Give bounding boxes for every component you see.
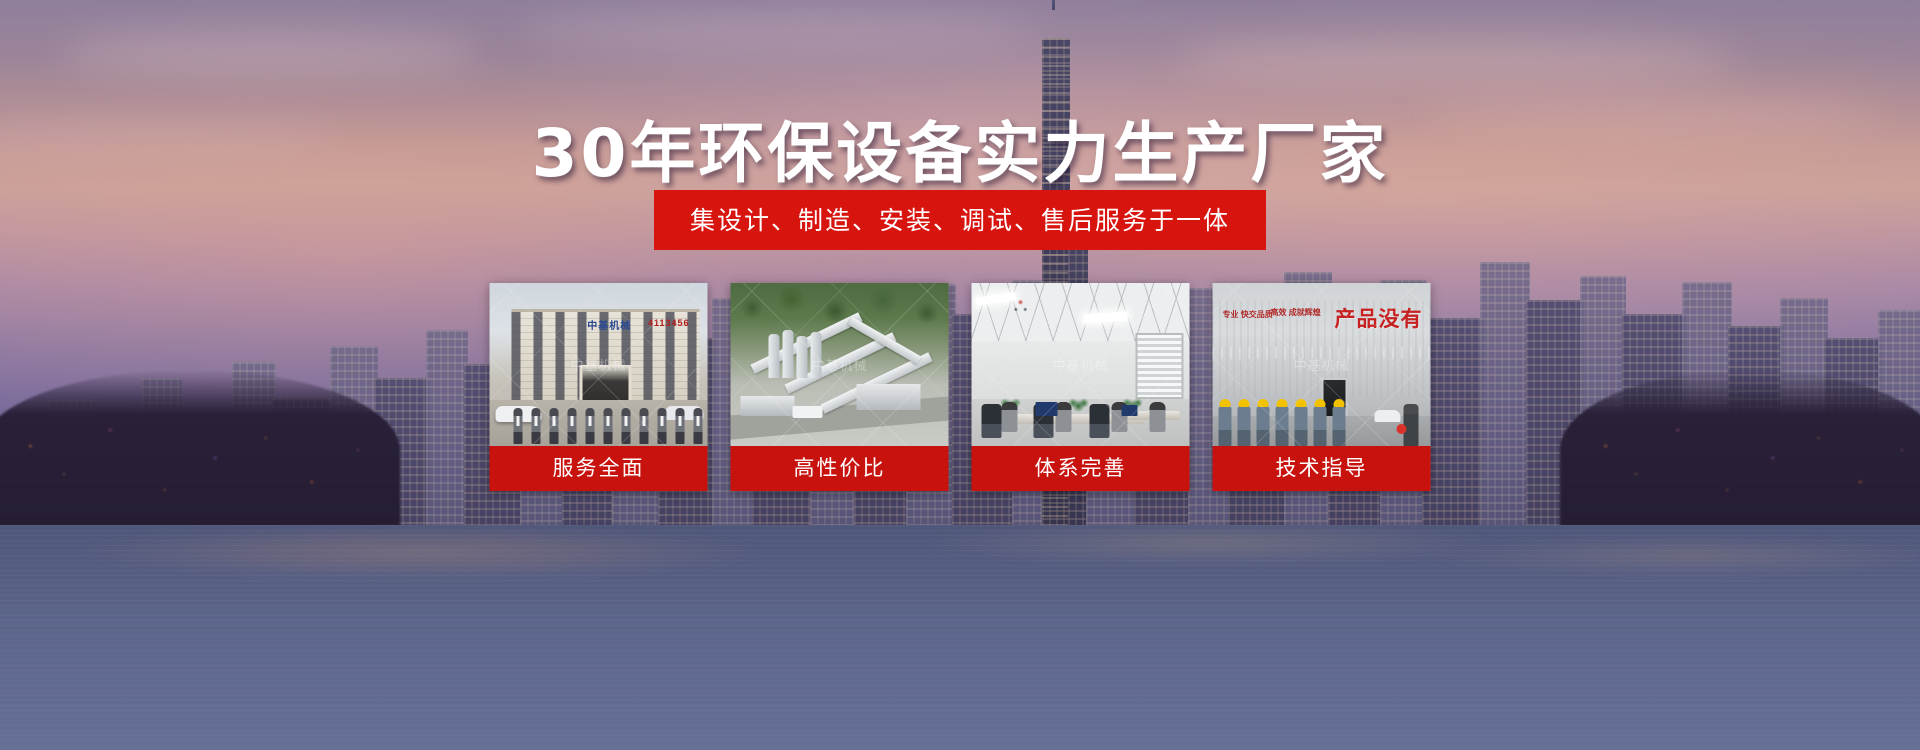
ceiling-light <box>1083 311 1128 323</box>
workshop-signage: 产品没有 <box>1335 303 1423 333</box>
feature-card[interactable]: 中基机械 体系完善 <box>972 283 1190 491</box>
storage-silo <box>811 332 822 378</box>
helmeted-worker <box>1333 406 1346 446</box>
staff-person <box>640 408 649 444</box>
staff-person <box>550 408 559 444</box>
seated-employee <box>1150 402 1166 432</box>
photo-office-building: 中基机械 4113456 <box>490 283 708 446</box>
staff-person <box>604 408 613 444</box>
card-caption: 技术指导 <box>1213 446 1431 491</box>
banner-content: 30年环保设备实力生产厂家 集设计、制造、安装、调试、售后服务于一体 中基机械 … <box>0 0 1920 750</box>
card-caption: 高性价比 <box>731 446 949 491</box>
delivery-truck <box>793 406 823 418</box>
card-caption: 体系完善 <box>972 446 1190 491</box>
banner-headline: 30年环保设备实力生产厂家 <box>0 100 1920 196</box>
staff-person <box>568 408 577 444</box>
storage-silo <box>797 336 808 378</box>
staff-person <box>676 408 685 444</box>
office-chair <box>1090 404 1110 438</box>
staff-person <box>622 408 631 444</box>
feature-card[interactable]: 中基机械 4113456 <box>490 283 708 491</box>
helmeted-worker <box>1238 406 1251 446</box>
parked-car <box>1375 410 1401 422</box>
wall-logo <box>1008 297 1034 317</box>
office-chair <box>982 404 1002 438</box>
hero-banner: 30年环保设备实力生产厂家 集设计、制造、安装、调试、售后服务于一体 中基机械 … <box>0 0 1920 750</box>
card-photo: 中基机械 4113456 <box>490 283 708 446</box>
worker-group <box>1219 406 1346 446</box>
helmeted-worker <box>1295 406 1308 446</box>
window-strip <box>1213 347 1431 359</box>
card-photo: 专业 快交品质 高效 成就辉煌 产品没有 <box>1213 283 1431 446</box>
company-signage: 中基机械 <box>587 317 631 332</box>
banner-subline-wrap: 集设计、制造、安装、调试、售后服务于一体 <box>0 190 1920 250</box>
helmeted-worker <box>1219 406 1232 446</box>
card-caption: 服务全面 <box>490 446 708 491</box>
building-entrance <box>580 365 632 405</box>
card-photo: 中基机械 <box>731 283 949 446</box>
feature-card[interactable]: 专业 快交品质 高效 成就辉煌 产品没有 <box>1213 283 1431 491</box>
laptop <box>1036 402 1058 416</box>
helmeted-worker <box>1257 406 1270 446</box>
photo-factory-workshop: 专业 快交品质 高效 成就辉煌 产品没有 <box>1213 283 1431 446</box>
helmeted-worker <box>1314 406 1327 446</box>
seated-employee <box>1002 402 1018 432</box>
feature-card[interactable]: 中基机械 高性价比 <box>731 283 949 491</box>
wall-slogan-left: 专业 快交品质 <box>1223 309 1273 320</box>
window-blinds <box>1136 333 1184 399</box>
staff-person <box>532 408 541 444</box>
phone-number: 4113456 <box>648 318 690 328</box>
staff-lineup <box>514 408 703 444</box>
storage-silo <box>783 330 794 378</box>
laptop <box>1122 405 1138 416</box>
staff-person <box>586 408 595 444</box>
storage-silo <box>769 334 780 378</box>
wall-slogan-right: 高效 成就辉煌 <box>1271 307 1321 318</box>
seated-employee <box>1056 402 1072 432</box>
staff-person <box>658 408 667 444</box>
banner-subline: 集设计、制造、安装、调试、售后服务于一体 <box>654 190 1266 250</box>
plant-workshop <box>857 384 921 410</box>
feature-card-list: 中基机械 4113456 <box>490 283 1431 491</box>
staff-person <box>694 408 703 444</box>
helmeted-worker <box>1276 406 1289 446</box>
instructor-person <box>1404 404 1419 446</box>
staff-person <box>514 408 523 444</box>
photo-production-base-aerial <box>731 283 949 446</box>
plant-workshop <box>741 396 795 416</box>
photo-office-interior <box>972 283 1190 446</box>
building-facade: 中基机械 4113456 <box>512 309 700 405</box>
plant-structures <box>741 328 941 424</box>
card-photo: 中基机械 <box>972 283 1190 446</box>
